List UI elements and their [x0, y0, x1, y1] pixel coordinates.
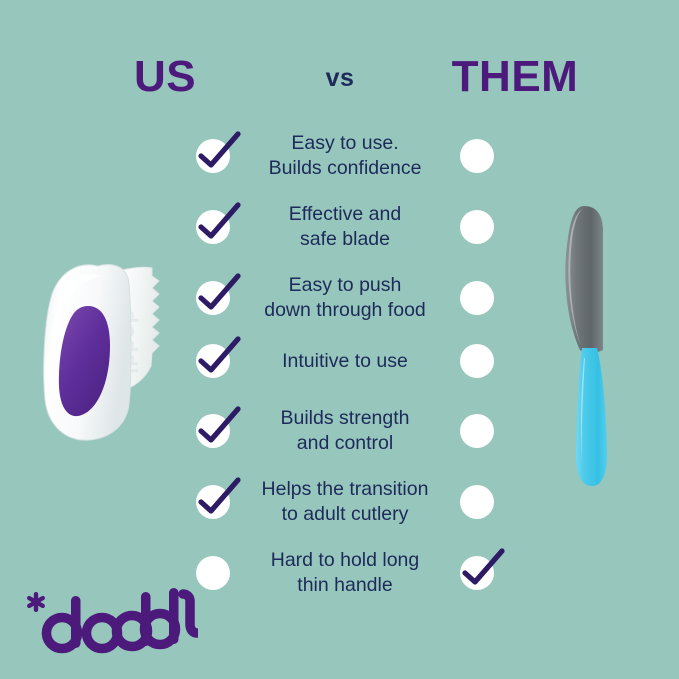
comparison-row: Helps the transition to adult cutlery — [190, 474, 500, 530]
comparison-row-label: Hard to hold long thin handle — [245, 548, 445, 598]
comparison-row: Intuitive to use — [190, 341, 500, 381]
checkmark-icon — [193, 201, 241, 243]
checkbox-left-row-4-checked[interactable] — [196, 344, 230, 378]
checkbox-right-row-6-unchecked[interactable] — [460, 485, 494, 519]
logo-asterisk-icon — [26, 592, 46, 612]
checkmark-icon — [457, 547, 505, 589]
circle-marker — [460, 344, 494, 378]
checkmark-icon — [193, 130, 241, 172]
checkbox-right-row-5-unchecked[interactable] — [460, 414, 494, 448]
circle-marker — [460, 414, 494, 448]
comparison-row-label: Builds strength and control — [245, 406, 445, 456]
checkbox-left-row-6-checked[interactable] — [196, 485, 230, 519]
checkmark-icon — [193, 272, 241, 314]
checkbox-left-row-7-unchecked[interactable] — [196, 556, 230, 590]
comparison-row: Builds strength and control — [190, 403, 500, 459]
comparison-row-label: Effective and safe blade — [245, 202, 445, 252]
checkmark-icon — [193, 476, 241, 518]
checkbox-right-row-1-unchecked[interactable] — [460, 139, 494, 173]
comparison-row-label: Intuitive to use — [245, 349, 445, 374]
comparison-row: Easy to use. Builds confidence — [190, 128, 500, 184]
circle-marker — [460, 485, 494, 519]
infographic-canvas: US vs THEM Easy to use. Builds confidenc… — [0, 0, 679, 679]
checkbox-right-row-7-checked[interactable] — [460, 556, 494, 590]
heading-them: THEM — [350, 52, 679, 102]
brand-logo-doddl — [18, 586, 198, 662]
checkbox-right-row-2-unchecked[interactable] — [460, 210, 494, 244]
checkbox-left-row-5-checked[interactable] — [196, 414, 230, 448]
product-image-conventional-knife — [540, 200, 640, 500]
checkbox-right-row-3-unchecked[interactable] — [460, 281, 494, 315]
comparison-row-label: Easy to use. Builds confidence — [245, 131, 445, 181]
checkmark-icon — [193, 405, 241, 447]
comparison-row: Hard to hold long thin handle — [190, 545, 500, 601]
circle-marker — [460, 281, 494, 315]
comparison-row: Effective and safe blade — [190, 199, 500, 255]
product-image-doddl-knife: doddl — [38, 248, 190, 453]
circle-marker — [196, 556, 230, 590]
comparison-row-label: Easy to push down through food — [245, 273, 445, 323]
checkmark-icon — [193, 335, 241, 377]
checkbox-left-row-1-checked[interactable] — [196, 139, 230, 173]
comparison-row: Easy to push down through food — [190, 270, 500, 326]
checkbox-right-row-4-unchecked[interactable] — [460, 344, 494, 378]
circle-marker — [460, 139, 494, 173]
comparison-row-label: Helps the transition to adult cutlery — [245, 477, 445, 527]
circle-marker — [460, 210, 494, 244]
checkbox-left-row-3-checked[interactable] — [196, 281, 230, 315]
checkbox-left-row-2-checked[interactable] — [196, 210, 230, 244]
